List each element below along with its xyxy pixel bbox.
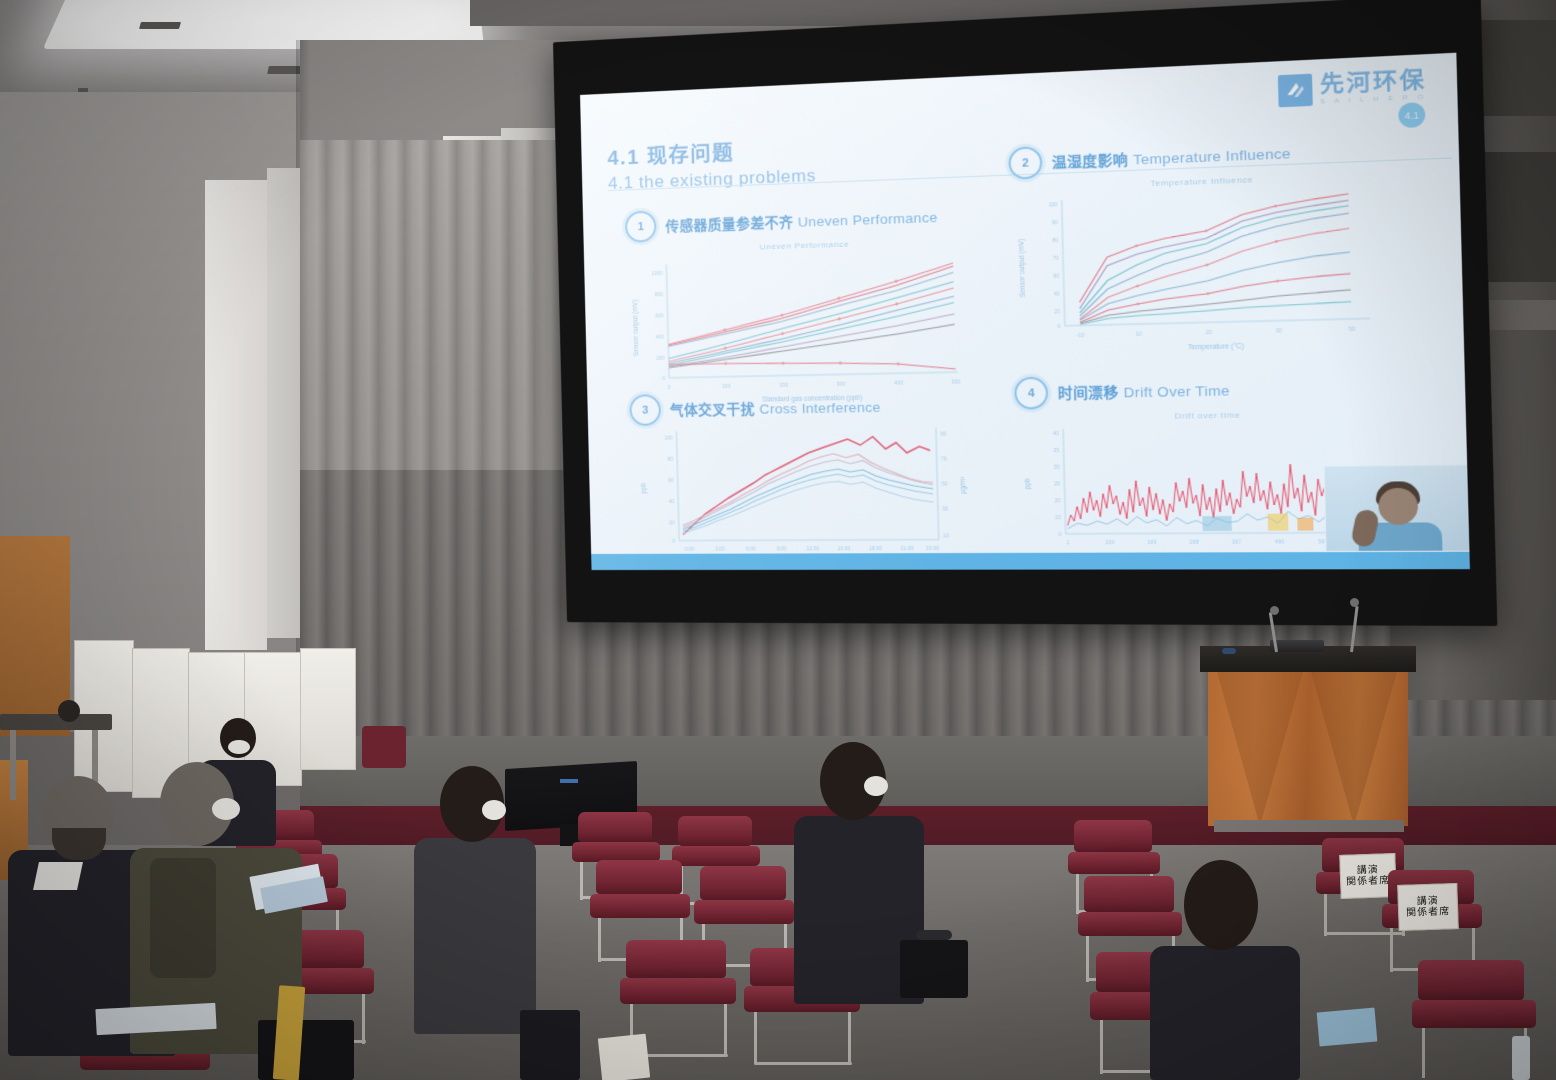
- shirt-collar: [33, 862, 83, 890]
- svg-text:397: 397: [1232, 539, 1242, 545]
- seat-sign: 講演関係者席: [1397, 883, 1459, 931]
- logo-text-cn: 先河环保: [1320, 68, 1427, 96]
- svg-text:100: 100: [1105, 540, 1115, 546]
- svg-text:40: 40: [668, 499, 674, 505]
- briefcase: [900, 940, 968, 998]
- quadrant-4-label-en: Drift Over Time: [1123, 383, 1230, 401]
- quadrant-1-label-cn: 传感器质量参差不齐: [665, 215, 793, 235]
- svg-text:1: 1: [1067, 540, 1070, 546]
- chart-cross-interference: 10080 6040 200 9070 5030 10 ppb μg/m³: [630, 423, 997, 569]
- quadrant-1-label-en: Uneven Performance: [798, 210, 938, 230]
- svg-text:0: 0: [672, 539, 675, 545]
- quadrant-4-label-cn: 时间漂移: [1058, 385, 1119, 402]
- svg-text:50: 50: [1349, 326, 1356, 333]
- svg-text:800: 800: [655, 292, 664, 298]
- attendee: [414, 766, 536, 1034]
- svg-text:20: 20: [1054, 498, 1060, 504]
- projection-screen[interactable]: 先河环保 S A I L H E R O 4.1 现存问题 4.1 the ex…: [553, 0, 1497, 626]
- monitor-logo-icon: [560, 779, 578, 783]
- svg-text:Sensor output (mV): Sensor output (mV): [632, 300, 640, 357]
- screen-surface: 先河环保 S A I L H E R O 4.1 现存问题 4.1 the ex…: [580, 53, 1470, 570]
- slide-footer-bar: [591, 552, 1470, 570]
- quadrant-1: 1 传感器质量参差不齐 Uneven Performance Uneven Pe…: [625, 198, 993, 408]
- remote-speaker-video-thumbnail[interactable]: [1323, 464, 1470, 552]
- attendee: [1150, 860, 1300, 1080]
- page-badge: 4.1: [1398, 102, 1425, 128]
- quadrant-4-heading: 4 时间漂移 Drift Over Time: [1014, 370, 1407, 410]
- podium-small-device: [1222, 648, 1236, 654]
- svg-text:0: 0: [668, 385, 671, 391]
- svg-text:ppb: ppb: [640, 482, 647, 493]
- quadrant-4-number: 4: [1014, 377, 1048, 410]
- svg-text:30: 30: [1054, 465, 1060, 471]
- svg-text:-10: -10: [1076, 333, 1084, 340]
- svg-text:ppb: ppb: [1024, 478, 1032, 490]
- svg-text:90: 90: [1052, 220, 1058, 227]
- folder: [1317, 1008, 1378, 1047]
- bag: [520, 1010, 580, 1080]
- svg-text:Temperature (°C): Temperature (°C): [1188, 342, 1244, 352]
- svg-text:Sensor output (mV): Sensor output (mV): [1018, 239, 1027, 298]
- svg-text:18:00: 18:00: [869, 546, 883, 552]
- side-table: [0, 714, 112, 730]
- svg-text:20: 20: [669, 520, 675, 526]
- microphone-head-icon: [1350, 598, 1359, 607]
- svg-text:40: 40: [1054, 291, 1060, 297]
- briefcase-handle: [916, 930, 952, 940]
- podium-laptop: [1270, 640, 1324, 652]
- sailhero-logo-icon: [1278, 74, 1313, 108]
- video-person-head: [1378, 488, 1418, 525]
- svg-text:1000: 1000: [651, 271, 663, 277]
- svg-text:70: 70: [941, 456, 947, 462]
- water-bottle: [1512, 1036, 1530, 1080]
- microphone-head-icon: [1270, 606, 1279, 615]
- podium-base: [1214, 820, 1404, 832]
- chart-uneven-performance: 1000800 600400 2000 0100 200300 400500 S…: [626, 246, 993, 409]
- svg-text:400: 400: [656, 334, 665, 340]
- company-logo: 先河环保 S A I L H E R O: [1278, 68, 1427, 107]
- svg-text:0:00: 0:00: [685, 547, 695, 553]
- svg-text:60: 60: [668, 478, 674, 484]
- svg-text:80: 80: [1052, 238, 1058, 245]
- svg-text:9:00: 9:00: [777, 546, 787, 552]
- slide-title-cn: 4.1 现存问题: [607, 133, 816, 171]
- svg-text:30: 30: [1276, 328, 1283, 335]
- svg-text:10: 10: [1136, 331, 1143, 338]
- svg-text:12:00: 12:00: [806, 546, 819, 552]
- svg-text:μg/m³: μg/m³: [959, 476, 967, 494]
- quadrant-2: 2 温湿度影响 Temperature Influence Temperatur…: [1008, 131, 1406, 362]
- svg-text:3:00: 3:00: [715, 547, 725, 553]
- svg-text:300: 300: [837, 382, 846, 388]
- quadrant-1-number: 1: [625, 210, 657, 242]
- wall-niche: [1476, 20, 1556, 116]
- slide-title: 4.1 现存问题 4.1 the existing problems: [607, 133, 816, 194]
- svg-text:25: 25: [1054, 481, 1060, 487]
- svg-text:35: 35: [1053, 448, 1059, 454]
- svg-text:60: 60: [1053, 273, 1059, 280]
- lecture-hall-photo: 先河环保 S A I L H E R O 4.1 现存问题 4.1 the ex…: [0, 0, 1556, 1080]
- podium-facet: [1310, 668, 1398, 826]
- svg-text:0: 0: [662, 376, 665, 382]
- quadrant-3: 3 气体交叉干扰 Cross Interference: [629, 388, 997, 569]
- svg-text:600: 600: [655, 313, 664, 319]
- quadrant-2-label-en: Temperature Influence: [1133, 145, 1291, 167]
- svg-text:50: 50: [942, 481, 948, 487]
- svg-text:6:00: 6:00: [746, 546, 756, 552]
- svg-text:15:00: 15:00: [837, 546, 850, 552]
- quadrant-2-label-cn: 温湿度影响: [1052, 152, 1129, 171]
- partition-board: [300, 648, 356, 770]
- svg-text:70: 70: [1053, 256, 1059, 263]
- paper-bag: [598, 1034, 650, 1080]
- svg-text:100: 100: [664, 435, 673, 441]
- svg-text:10: 10: [1055, 515, 1061, 521]
- podium-facet: [1216, 668, 1304, 826]
- quadrant-2-number: 2: [1008, 146, 1042, 180]
- stacked-chair: [362, 726, 406, 768]
- svg-text:10: 10: [943, 533, 949, 539]
- quadrant-3-label-en: Cross Interference: [759, 399, 881, 416]
- svg-text:199: 199: [1147, 540, 1157, 546]
- svg-text:496: 496: [1275, 539, 1285, 545]
- table-object: [58, 700, 80, 722]
- svg-text:200: 200: [656, 356, 665, 362]
- svg-text:20: 20: [1054, 309, 1060, 315]
- svg-text:100: 100: [722, 384, 731, 390]
- svg-text:400: 400: [894, 380, 903, 386]
- svg-text:0: 0: [1057, 324, 1060, 330]
- ceiling-vent: [139, 22, 181, 29]
- presentation-slide: 先河环保 S A I L H E R O 4.1 现存问题 4.1 the ex…: [580, 53, 1470, 570]
- chart-temperature-influence: 10090 8070 6040 200 -1010 2030 50 Temper…: [1009, 181, 1405, 362]
- acoustic-panel: [205, 180, 267, 650]
- svg-text:90: 90: [940, 432, 946, 438]
- svg-text:20: 20: [1206, 330, 1213, 337]
- svg-text:23:00: 23:00: [926, 546, 940, 552]
- svg-text:30: 30: [942, 506, 948, 512]
- svg-text:100: 100: [1048, 202, 1057, 209]
- svg-text:500: 500: [952, 379, 961, 385]
- quadrant-3-number: 3: [629, 394, 661, 426]
- svg-text:80: 80: [667, 457, 673, 463]
- svg-text:40: 40: [1053, 431, 1059, 437]
- svg-text:0: 0: [1058, 532, 1061, 538]
- svg-text:200: 200: [779, 383, 788, 389]
- quadrant-3-label-cn: 气体交叉干扰: [670, 402, 755, 419]
- svg-text:298: 298: [1189, 540, 1199, 546]
- jacket-shoulder: [150, 858, 216, 978]
- quadrant-3-heading: 3 气体交叉干扰 Cross Interference: [629, 388, 993, 426]
- svg-text:21:00: 21:00: [900, 546, 914, 552]
